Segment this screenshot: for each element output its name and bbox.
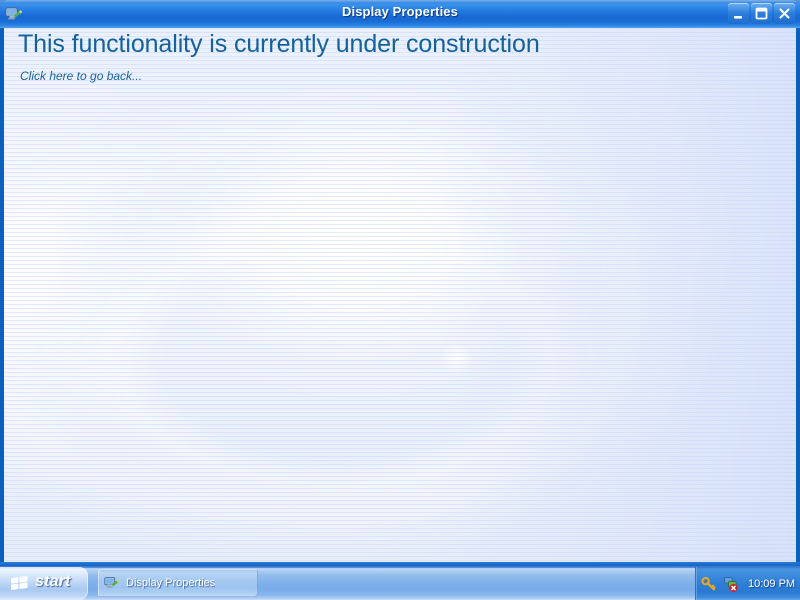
window-title: Display Properties: [0, 4, 800, 19]
taskbar: start Displ: [0, 566, 800, 600]
network-error-icon[interactable]: [723, 576, 739, 592]
window-title-bar[interactable]: Display Properties: [0, 0, 800, 28]
display-properties-window: Display Properties: [0, 0, 800, 566]
go-back-link[interactable]: Click here to go back...: [20, 69, 142, 83]
taskbar-buttons: Display Properties: [98, 569, 258, 597]
display-properties-icon: [104, 575, 120, 591]
taskbar-button-display-properties[interactable]: Display Properties: [98, 569, 258, 597]
screen: Display Properties: [0, 0, 800, 600]
content-area: This functionality is currently under co…: [4, 28, 796, 562]
display-properties-icon: [5, 5, 23, 23]
system-tray: 10:09 PM: [695, 567, 800, 600]
page-title: This functionality is currently under co…: [18, 30, 540, 59]
taskbar-button-label: Display Properties: [126, 577, 215, 589]
maximize-button[interactable]: [751, 3, 772, 24]
minimize-button[interactable]: [728, 3, 749, 24]
clock[interactable]: 10:09 PM: [748, 578, 795, 590]
window-controls: [728, 3, 795, 24]
key-icon[interactable]: [701, 576, 717, 592]
windows-flag-icon: [10, 575, 29, 592]
taskbar-top-edge: [0, 566, 800, 568]
close-button[interactable]: [774, 3, 795, 24]
start-button-label: start: [35, 573, 71, 591]
window-body: This functionality is currently under co…: [4, 28, 796, 562]
start-button[interactable]: start: [0, 567, 88, 600]
